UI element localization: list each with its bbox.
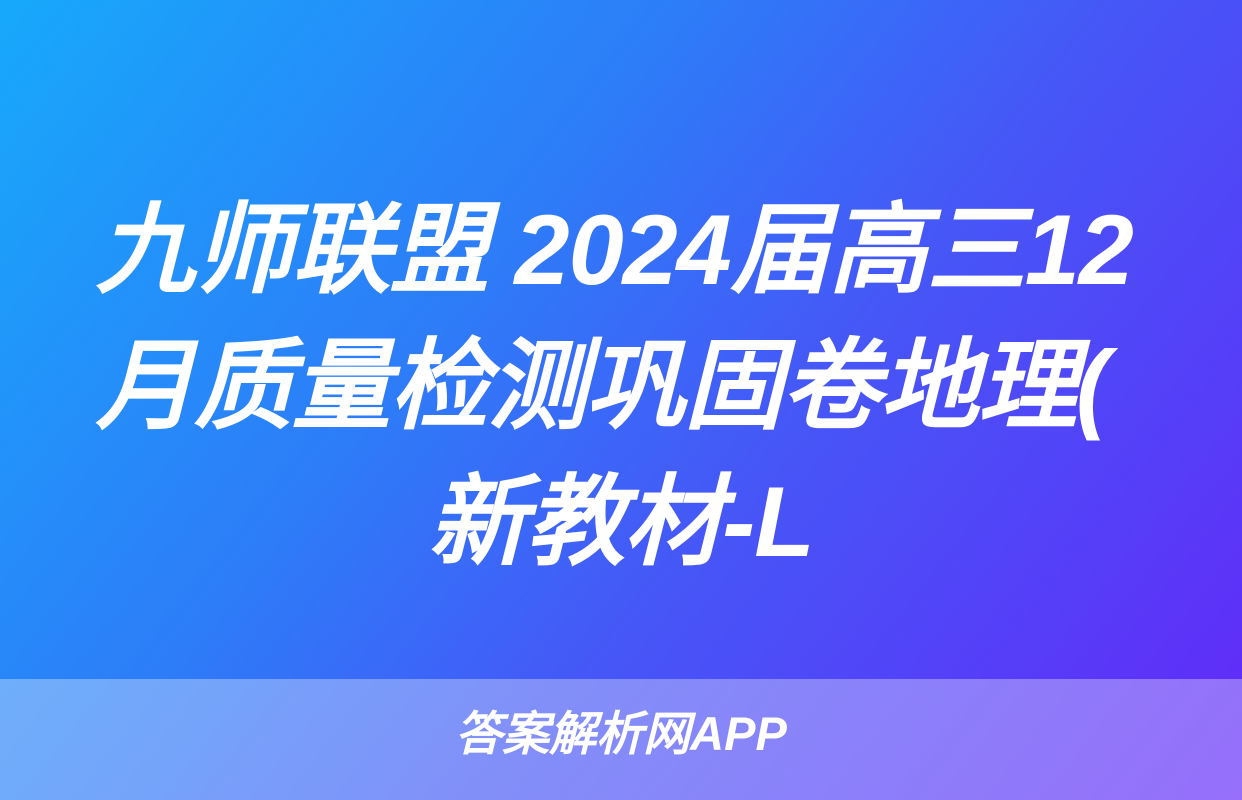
poster-title: 九师联盟 2024届高三12 月质量检测巩固卷地理( 新教材-L bbox=[0, 182, 1242, 590]
poster-canvas: 九师联盟 2024届高三12 月质量检测巩固卷地理( 新教材-L 答案解析网AP… bbox=[0, 0, 1242, 800]
title-line-3: 新教材-L bbox=[92, 454, 1150, 590]
title-line-2: 月质量检测巩固卷地理( bbox=[96, 318, 1150, 454]
app-watermark: 答案解析网APP bbox=[0, 702, 1242, 766]
title-line-1: 九师联盟 2024届高三12 bbox=[96, 182, 1150, 318]
